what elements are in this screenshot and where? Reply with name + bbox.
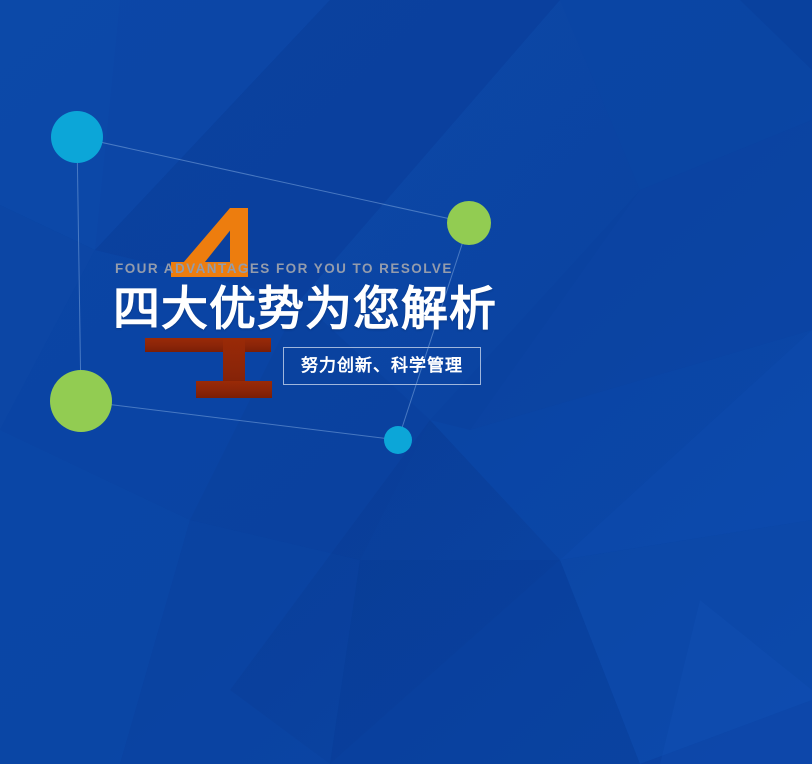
banner-headline: 四大优势为您解析	[113, 284, 673, 334]
banner-tagline: 努力创新、科学管理	[283, 347, 481, 385]
tagline-row: 努力创新、科学管理	[113, 347, 673, 385]
promo-banner: FOUR ADVANTAGES FOR YOU TO RESOLVE 四大优势为…	[0, 0, 812, 764]
banner-eyebrow: FOUR ADVANTAGES FOR YOU TO RESOLVE	[115, 262, 673, 276]
banner-copy: FOUR ADVANTAGES FOR YOU TO RESOLVE 四大优势为…	[113, 262, 673, 385]
